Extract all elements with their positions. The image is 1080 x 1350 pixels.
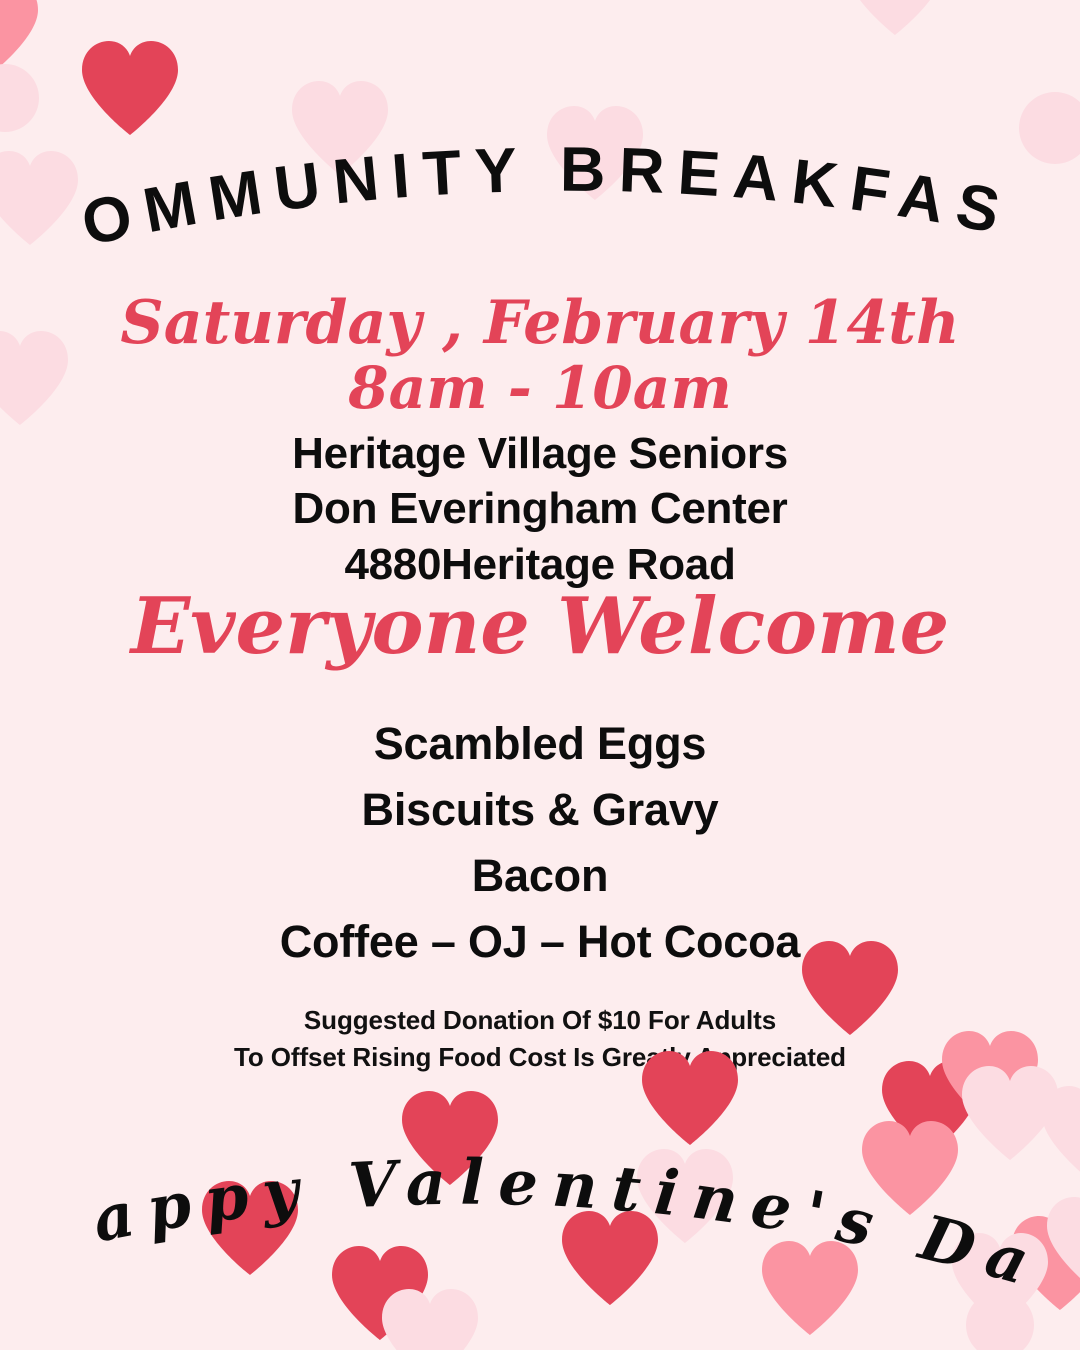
donation-note-line-1: Suggested Donation Of $10 For Adults: [0, 1002, 1080, 1039]
venue-block: Heritage Village Seniors Don Everingham …: [0, 426, 1080, 592]
page-title: COMMUNITY BREAKFAST: [0, 120, 1080, 300]
menu-item: Bacon: [0, 850, 1080, 902]
welcome-headline: Everyone Welcome: [0, 588, 1080, 666]
menu-item: Scambled Eggs: [0, 718, 1080, 770]
footer-greeting-text: Happy Valentine's Day: [0, 1072, 1050, 1303]
footer-greeting: Happy Valentine's Day: [0, 1130, 1080, 1350]
menu-list: Scambled Eggs Biscuits & Gravy Bacon Cof…: [0, 718, 1080, 968]
flyer-canvas: COMMUNITY BREAKFAST Saturday , February …: [0, 0, 1080, 1350]
venue-building: Don Everingham Center: [0, 481, 1080, 536]
page-title-text: COMMUNITY BREAKFAST: [0, 64, 1018, 259]
event-time: 8am - 10am: [0, 358, 1080, 418]
event-date: Saturday , February 14th: [0, 292, 1080, 354]
donation-note: Suggested Donation Of $10 For Adults To …: [0, 1002, 1080, 1077]
donation-note-line-2: To Offset Rising Food Cost Is Greatly Ap…: [0, 1039, 1080, 1076]
menu-item: Coffee – OJ – Hot Cocoa: [0, 916, 1080, 968]
menu-item: Biscuits & Gravy: [0, 784, 1080, 836]
venue-organization: Heritage Village Seniors: [0, 426, 1080, 481]
